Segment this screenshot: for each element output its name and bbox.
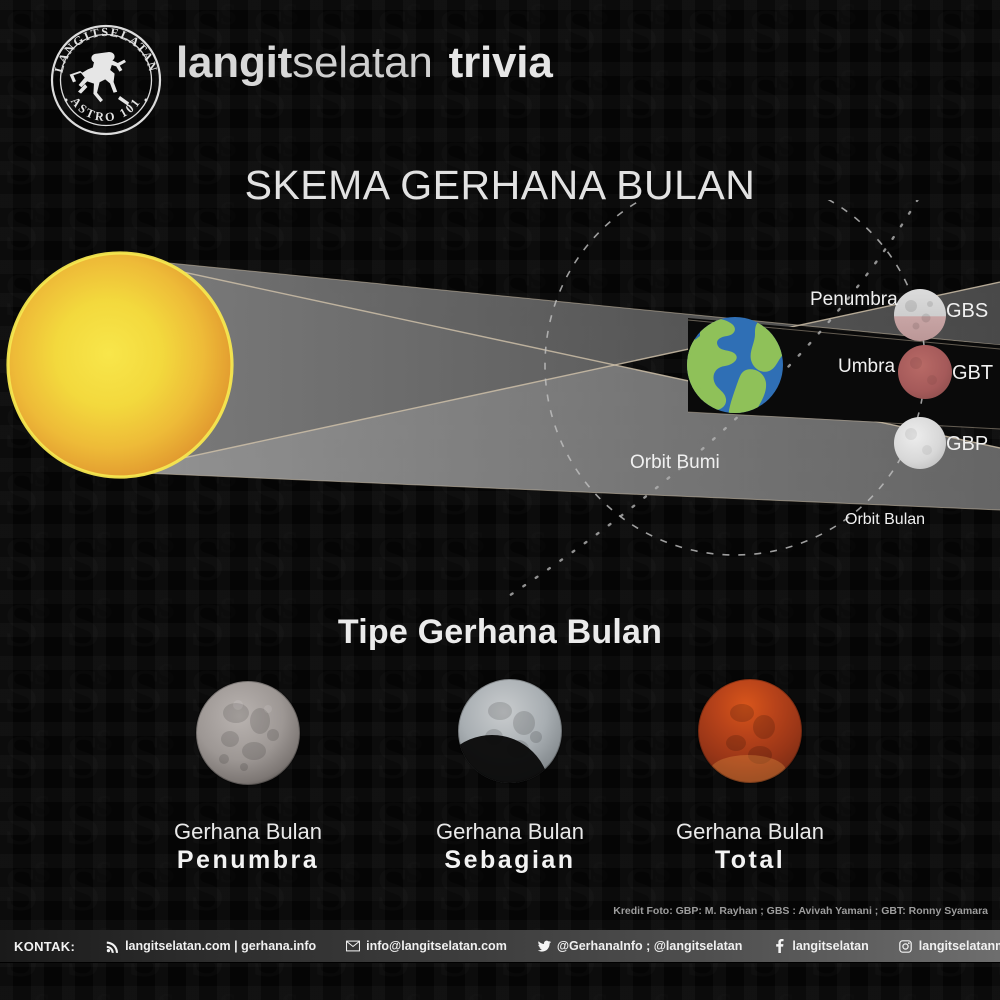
section-title-types: Tipe Gerhana Bulan [0, 613, 1000, 652]
eclipse-type-caption: Gerhana Bulan Penumbra [118, 819, 378, 875]
svg-text:ASTRO 101: ASTRO 101 [68, 94, 144, 124]
brand-light: selatan [292, 38, 432, 87]
label-orbit-bumi: Orbit Bumi [630, 452, 720, 474]
label-umbra: Umbra [838, 356, 895, 378]
label-penumbra: Penumbra [810, 289, 898, 311]
partial-moon-photo [450, 675, 570, 795]
moon-gbs-graphic [894, 289, 946, 341]
brand-wordmark: langitselatantrivia [176, 38, 553, 88]
envelope-icon [346, 939, 360, 953]
footer-item-label: @GerhanaInfo ; @langitselatan [557, 939, 743, 953]
moon-gbt-graphic [898, 345, 952, 399]
page-header: LANGITSELATAN ASTRO 101 langitselatantri… [0, 0, 1000, 140]
eclipse-type-line2: Sebagian [380, 845, 640, 875]
eclipse-type-line2: Penumbra [118, 845, 378, 875]
kontak-label: KONTAK: [14, 939, 75, 954]
eclipse-type-caption: Gerhana Bulan Total [620, 819, 880, 875]
eclipse-type-caption: Gerhana Bulan Sebagian [380, 819, 640, 875]
label-gbp: GBP [946, 433, 988, 456]
eclipse-type-line1: Gerhana Bulan [380, 819, 640, 845]
eclipse-type-card: Gerhana Bulan Total [620, 675, 880, 875]
lunar-eclipse-schematic [0, 200, 1000, 600]
brand-bold: langit [176, 38, 292, 87]
label-gbt: GBT [952, 362, 993, 385]
footer-item-label: info@langitselatan.com [366, 939, 507, 953]
eclipse-type-list: Gerhana Bulan Penumbra [0, 675, 1000, 875]
photo-credits: Kredit Foto: GBP: M. Rayhan ; GBS : Aviv… [613, 905, 988, 917]
langitselatan-logo: LANGITSELATAN ASTRO 101 [48, 22, 164, 138]
facebook-icon [772, 939, 786, 953]
infographic-page: S s LANGITSELATAN ASTRO 101 [0, 0, 1000, 1000]
footer-item-label: langitselatan.com | gerhana.info [125, 939, 316, 953]
logo-bottom-arc-text: ASTRO 101 [68, 94, 144, 124]
eclipse-type-line1: Gerhana Bulan [620, 819, 880, 845]
sun-graphic [8, 253, 232, 477]
eclipse-type-card: Gerhana Bulan Sebagian [380, 675, 640, 875]
penumbral-moon-photo [188, 675, 308, 795]
footer-item-website[interactable]: langitselatan.com | gerhana.info [105, 939, 316, 953]
label-orbit-bulan: Orbit Bulan [845, 511, 925, 529]
rss-icon [105, 939, 119, 953]
contact-footer: KONTAK: langitselatan.com | gerhana.info… [0, 930, 1000, 962]
footer-item-twitter[interactable]: @GerhanaInfo ; @langitselatan [537, 939, 743, 953]
footer-item-instagram[interactable]: langitselatanmedia [899, 939, 1000, 953]
moon-gbp-graphic [894, 417, 946, 469]
footer-item-email[interactable]: info@langitselatan.com [346, 939, 507, 953]
eclipse-type-card: Gerhana Bulan Penumbra [118, 675, 378, 875]
twitter-icon [537, 939, 551, 953]
label-gbs: GBS [946, 300, 988, 323]
footer-item-label: langitselatan [792, 939, 868, 953]
brand-tag: trivia [449, 38, 553, 87]
eclipse-type-line1: Gerhana Bulan [118, 819, 378, 845]
instagram-icon [899, 939, 913, 953]
footer-item-label: langitselatanmedia [919, 939, 1000, 953]
eclipse-type-line2: Total [620, 845, 880, 875]
total-moon-photo [690, 675, 810, 795]
footer-item-facebook[interactable]: langitselatan [772, 939, 868, 953]
